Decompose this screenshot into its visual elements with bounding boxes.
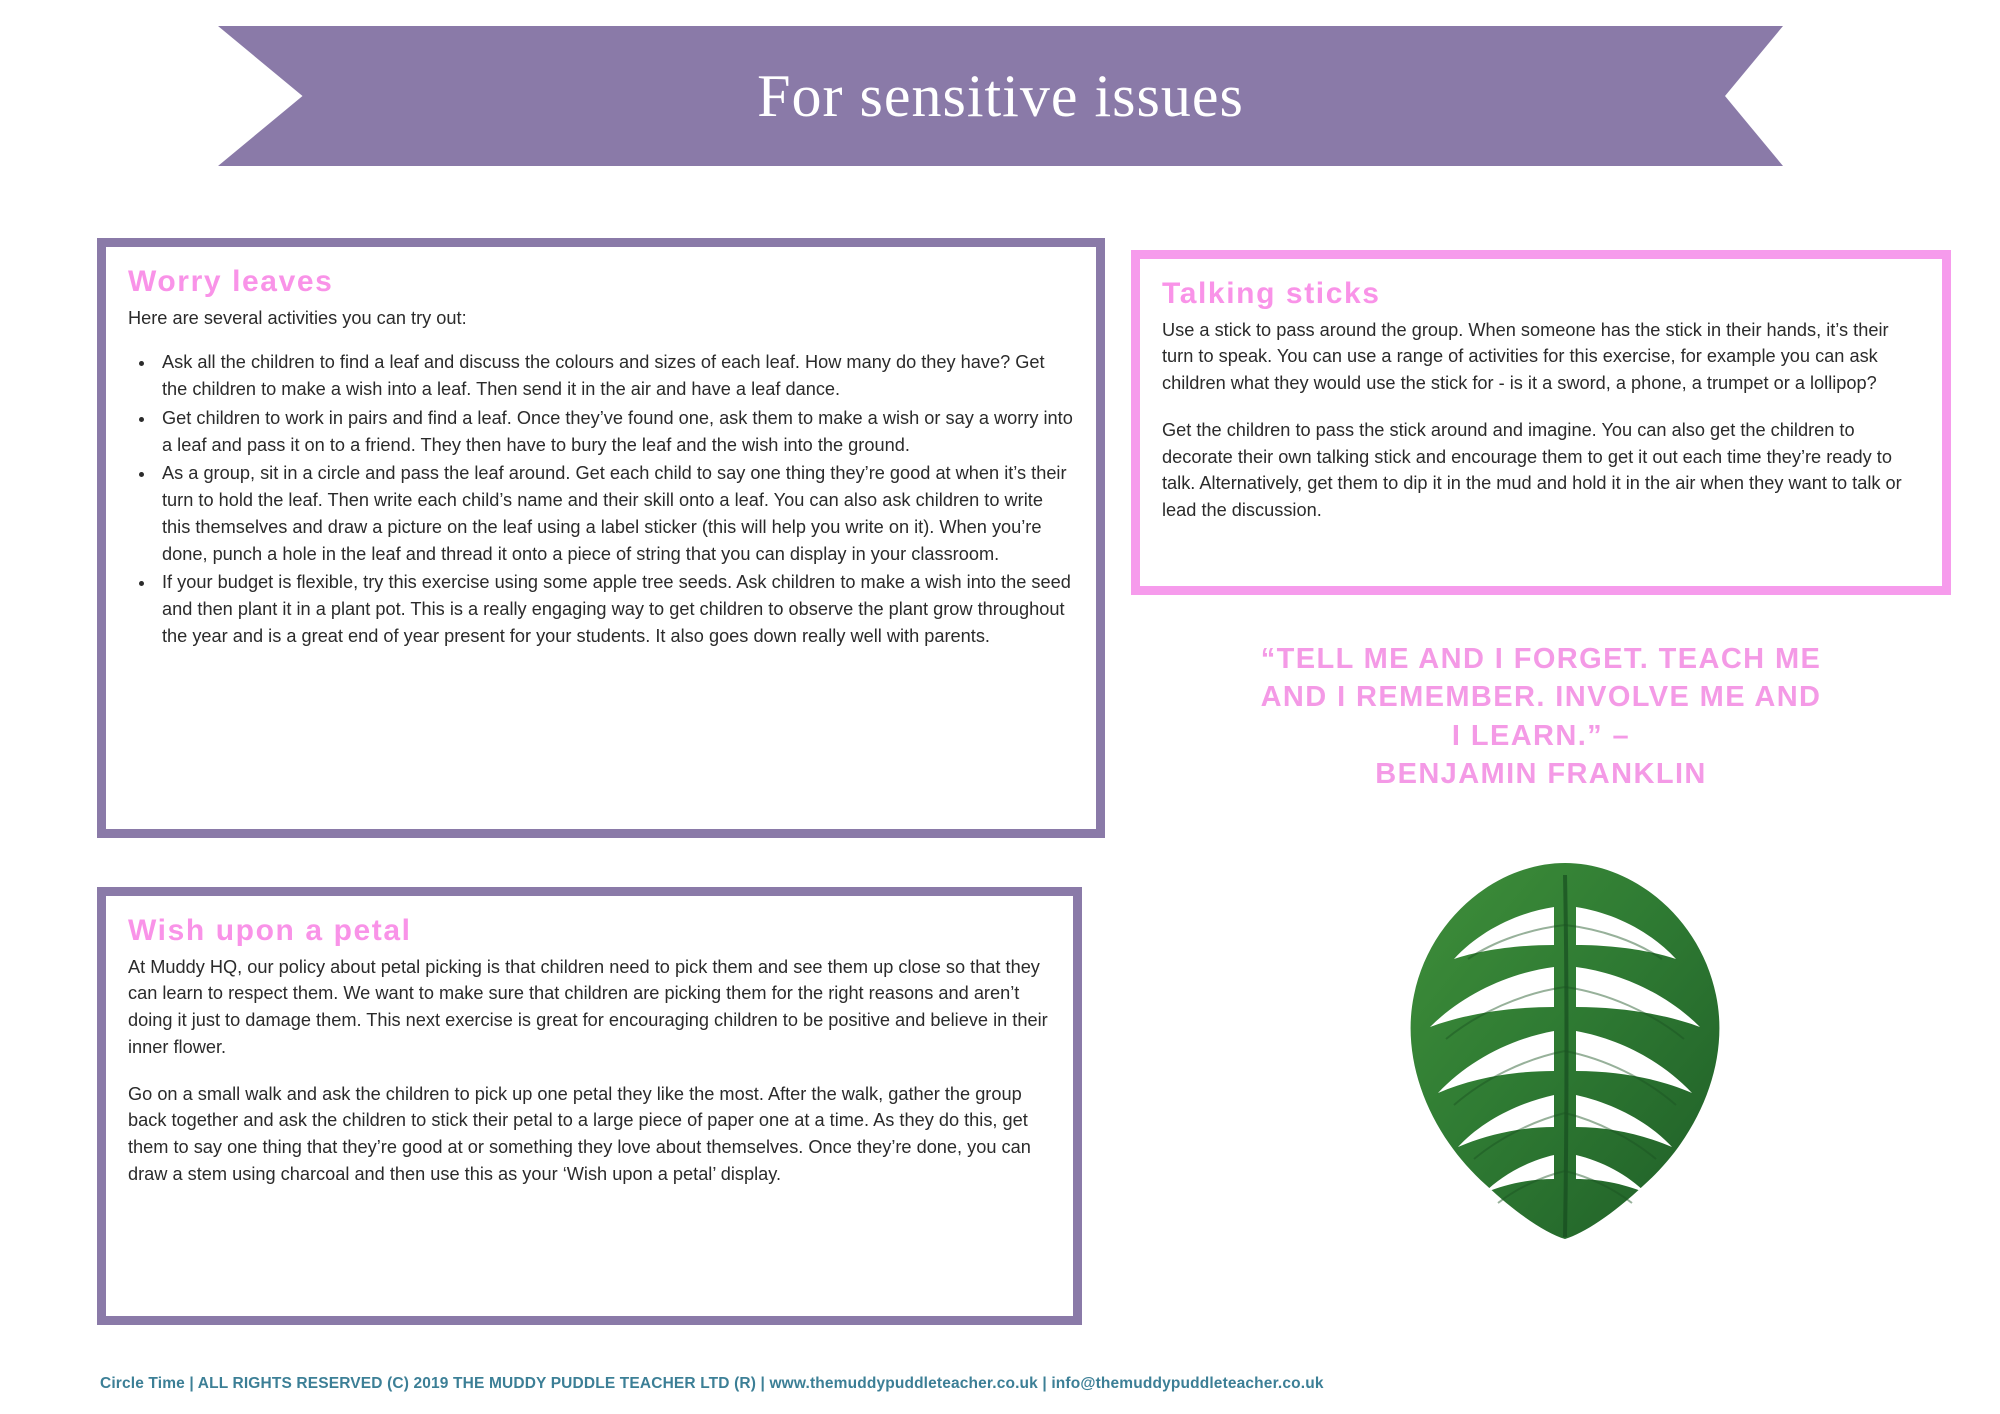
- list-item: Ask all the children to find a leaf and …: [156, 349, 1074, 403]
- card-talking-sticks: Talking sticks Use a stick to pass aroun…: [1131, 250, 1951, 595]
- list-item: Get children to work in pairs and find a…: [156, 405, 1074, 459]
- wish-upon-a-petal-paragraph: At Muddy HQ, our policy about petal pick…: [128, 954, 1051, 1061]
- quote-benjamin-franklin: “TELL ME AND I FORGET. TEACH ME AND I RE…: [1131, 640, 1951, 793]
- banner-ribbon: For sensitive issues: [218, 26, 1783, 166]
- talking-sticks-paragraph: Use a stick to pass around the group. Wh…: [1162, 317, 1920, 397]
- card-title-wish-upon-a-petal: Wish upon a petal: [128, 912, 1051, 950]
- list-item: If your budget is flexible, try this exe…: [156, 569, 1074, 649]
- list-item: As a group, sit in a circle and pass the…: [156, 460, 1074, 567]
- card-wish-upon-a-petal: Wish upon a petal At Muddy HQ, our polic…: [97, 887, 1082, 1325]
- footer-copyright: Circle Time | ALL RIGHTS RESERVED (C) 20…: [100, 1375, 1324, 1393]
- worry-leaves-intro: Here are several activities you can try …: [128, 305, 1074, 332]
- banner-left-notch-icon: [218, 26, 276, 166]
- quote-line: BENJAMIN FRANKLIN: [1131, 755, 1951, 793]
- quote-line: AND I REMEMBER. INVOLVE ME AND: [1131, 678, 1951, 716]
- page-title: For sensitive issues: [757, 62, 1244, 131]
- quote-line: I LEARN.” –: [1131, 717, 1951, 755]
- quote-line: “TELL ME AND I FORGET. TEACH ME: [1131, 640, 1951, 678]
- card-title-worry-leaves: Worry leaves: [128, 263, 1074, 301]
- card-worry-leaves: Worry leaves Here are several activities…: [97, 238, 1105, 838]
- banner-right-notch-icon: [1725, 26, 1783, 166]
- monstera-leaf-icon: [1400, 855, 1730, 1245]
- wish-upon-a-petal-paragraph: Go on a small walk and ask the children …: [128, 1081, 1051, 1188]
- talking-sticks-paragraph: Get the children to pass the stick aroun…: [1162, 417, 1920, 524]
- page-banner: For sensitive issues: [218, 26, 1783, 166]
- card-title-talking-sticks: Talking sticks: [1162, 275, 1920, 313]
- worry-leaves-bullet-list: Ask all the children to find a leaf and …: [128, 349, 1074, 649]
